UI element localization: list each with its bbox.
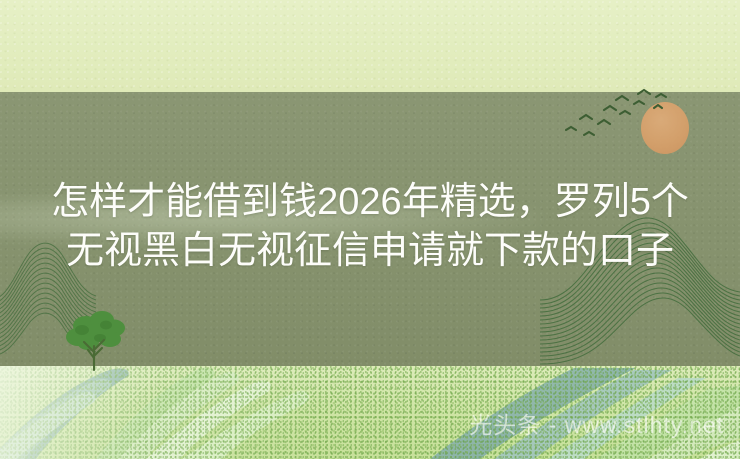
sky-band <box>0 0 740 92</box>
watermark-text: 光头条 - www.stlhty.net <box>469 412 724 438</box>
watermark: 光头条 - www.stlhty.net <box>0 406 740 440</box>
cover-image-canvas: 怎样才能借到钱2026年精选，罗列5个 无视黑白无视征信申请就下款的口子 光头条… <box>0 0 740 459</box>
flock-of-birds-icon <box>560 88 690 148</box>
title-line-2: 无视黑白无视征信申请就下款的口子 <box>0 227 740 276</box>
title-line-1: 怎样才能借到钱2026年精选，罗列5个 <box>0 178 740 227</box>
page-title: 怎样才能借到钱2026年精选，罗列5个 无视黑白无视征信申请就下款的口子 <box>0 178 740 276</box>
tree-icon <box>60 306 136 372</box>
